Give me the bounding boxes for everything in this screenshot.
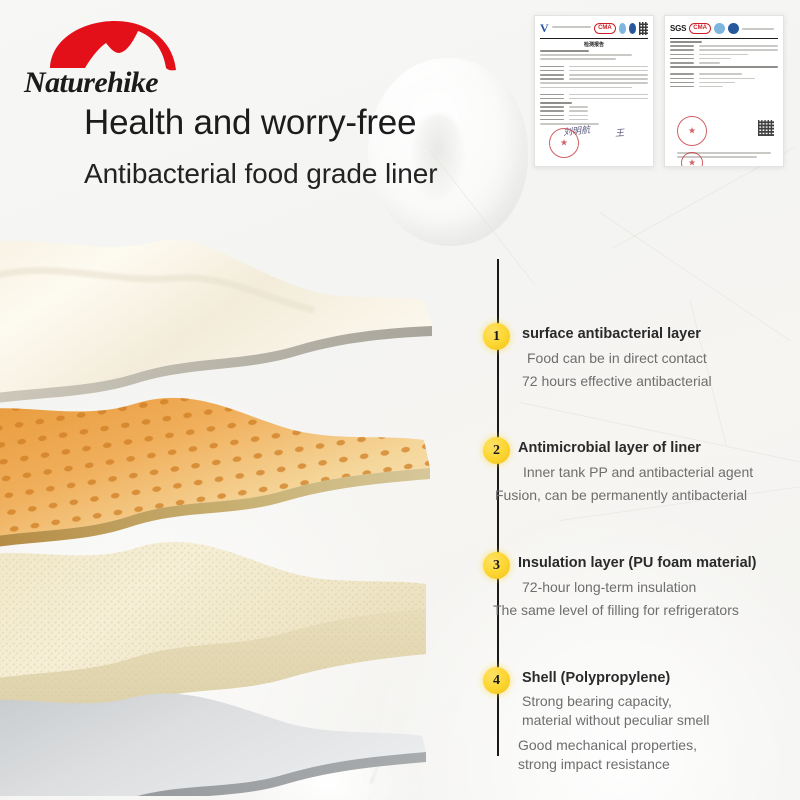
certificate-field-row bbox=[540, 70, 648, 72]
divider bbox=[670, 38, 778, 39]
layer-2-orange-sheet bbox=[0, 398, 430, 553]
mountain-arc-shape bbox=[50, 21, 176, 70]
qr-code-icon bbox=[639, 22, 648, 35]
certificate-field-row bbox=[540, 78, 648, 80]
certificate-title: 检测报告 bbox=[540, 41, 648, 48]
certificate-header: SGS CMA bbox=[670, 21, 778, 36]
qr-code-icon bbox=[758, 120, 774, 136]
badge-number-3: 3 bbox=[483, 552, 510, 579]
signature-mark: 王 bbox=[615, 126, 625, 140]
callout-line-3-1: 72-hour long-term insulation bbox=[522, 579, 696, 595]
bowl-ghost-shape bbox=[368, 58, 528, 246]
accreditation-badge-icon bbox=[619, 23, 626, 34]
certificate-field-row bbox=[670, 73, 778, 75]
orange-sheet-dots bbox=[0, 398, 430, 542]
callout-line-2-1: Inner tank PP and antibacterial agent bbox=[523, 464, 753, 480]
certificate-field-row bbox=[540, 119, 648, 121]
certificate-sgs-report[interactable]: SGS CMA bbox=[664, 15, 784, 167]
callout-line-4-1: Strong bearing capacity, bbox=[522, 693, 672, 709]
cma-badge-icon: CMA bbox=[689, 23, 711, 34]
callout-line-4-3: Good mechanical properties, bbox=[518, 737, 697, 753]
callout-line-2-2: Fusion, can be permanently antibacterial bbox=[495, 487, 747, 503]
certificate-header: V CMA bbox=[540, 21, 648, 36]
accreditation-badge-icon bbox=[728, 23, 739, 34]
certificate-field-row bbox=[670, 86, 778, 88]
cnas-v-logo-icon: V bbox=[540, 22, 549, 35]
certificate-header-text bbox=[742, 28, 774, 30]
certificate-field-row bbox=[670, 49, 778, 51]
page-title: Health and worry-free bbox=[84, 103, 416, 143]
certificate-field-row bbox=[540, 74, 648, 76]
callout-line-3-2: The same level of filling for refrigerat… bbox=[493, 602, 739, 618]
cma-badge-icon: CMA bbox=[594, 23, 616, 34]
certificate-text-line bbox=[670, 41, 702, 43]
certificate-text-line bbox=[670, 66, 778, 68]
certificate-field-row bbox=[670, 45, 778, 47]
background-crease bbox=[600, 212, 791, 341]
brand-logo: Naturehike bbox=[22, 12, 202, 96]
brand-wordmark: Naturehike bbox=[23, 66, 158, 96]
certificate-header-text bbox=[552, 26, 591, 28]
callout-line-4-2: material without peculiar smell bbox=[522, 712, 710, 728]
certificate-field-row bbox=[670, 62, 778, 64]
callout-title-3: Insulation layer (PU foam material) bbox=[518, 555, 757, 571]
callout-line-1-2: 72 hours effective antibacterial bbox=[522, 373, 712, 389]
sgs-logo-icon: SGS bbox=[670, 24, 686, 33]
certificate-text-line bbox=[540, 87, 632, 89]
certificate-text-line bbox=[540, 82, 648, 84]
red-seal-stamp-icon bbox=[549, 128, 579, 158]
certificate-field-row bbox=[540, 66, 648, 68]
certificate-text-line bbox=[540, 58, 616, 60]
badge-number-4: 4 bbox=[483, 667, 510, 694]
callout-title-2: Antimicrobial layer of liner bbox=[518, 440, 701, 456]
accreditation-badge-icon bbox=[629, 23, 636, 34]
callout-line-1-1: Food can be in direct contact bbox=[527, 350, 707, 366]
badge-number-2: 2 bbox=[483, 437, 510, 464]
certificate-field-row bbox=[670, 54, 778, 56]
page-subtitle: Antibacterial food grade liner bbox=[84, 158, 437, 190]
certificate-field-row bbox=[540, 110, 648, 112]
divider bbox=[540, 38, 648, 39]
certificate-test-report[interactable]: V CMA 检测报告 bbox=[534, 15, 654, 167]
certificate-field-row bbox=[670, 58, 778, 60]
certificate-field-row bbox=[670, 78, 778, 80]
certificate-field-row bbox=[540, 106, 648, 108]
cream-sheet-top bbox=[0, 240, 432, 398]
certificate-text-line bbox=[540, 54, 632, 56]
certificate-text-line bbox=[540, 50, 589, 52]
badge-number-1: 1 bbox=[483, 323, 510, 350]
callout-title-4: Shell (Polypropylene) bbox=[522, 670, 670, 686]
callout-line-4-4: strong impact resistance bbox=[518, 756, 670, 772]
accreditation-badge-icon bbox=[714, 23, 725, 34]
certificate-text-line bbox=[540, 102, 572, 104]
layer-4-gray-shell bbox=[0, 694, 426, 796]
callout-title-1: surface antibacterial layer bbox=[522, 326, 701, 342]
red-seal-stamp-icon bbox=[681, 152, 703, 167]
certificate-field-row bbox=[540, 94, 648, 96]
layer-1-cream-sheet bbox=[0, 240, 432, 408]
certificate-field-row bbox=[540, 98, 648, 100]
layered-material-illustration bbox=[0, 236, 464, 796]
gray-shell-top bbox=[0, 694, 426, 796]
mountain-arc-logo-icon: Naturehike bbox=[22, 12, 202, 96]
certificate-field-row bbox=[540, 115, 648, 117]
red-seal-stamp-icon bbox=[677, 116, 707, 146]
infographic-page: Naturehike Health and worry-free Antibac… bbox=[0, 0, 800, 800]
certificate-field-row bbox=[670, 82, 778, 84]
